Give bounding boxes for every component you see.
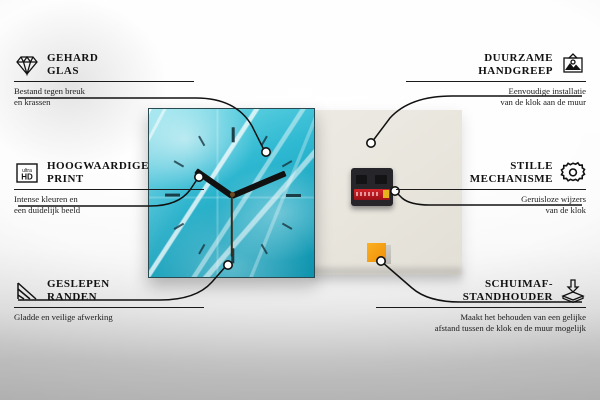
ultra-hd-icon: ultra HD: [14, 160, 40, 186]
feature-divider: [14, 189, 204, 190]
feature-geslepen-randen[interactable]: GESLEPENRANDEN Gladde en veilige afwerki…: [14, 278, 204, 323]
feature-title: SCHUIMAF-STANDHOUDER: [463, 278, 553, 304]
battery-plus-terminal: [383, 190, 389, 198]
feature-header: GEHARDGLAS: [14, 52, 194, 78]
clock-tick: [231, 127, 234, 142]
feature-header: SCHUIMAF-STANDHOUDER: [376, 278, 586, 304]
feature-divider: [376, 307, 586, 308]
feature-stille-mechanisme[interactable]: STILLEMECHANISME Geruisloze wijzersvan d…: [396, 160, 586, 216]
diagonal-lines-icon: [14, 278, 40, 304]
movement-block-left: [356, 175, 367, 184]
feature-duurzame-handgreep[interactable]: DUURZAMEHANDGREEP Eenvoudige installatie…: [406, 52, 586, 108]
feature-subtitle: Eenvoudige installatievan de klok aan de…: [406, 86, 586, 108]
svg-text:HD: HD: [21, 173, 33, 182]
clock-second-hand: [231, 195, 233, 257]
battery-label: [356, 192, 380, 196]
feature-divider: [406, 81, 586, 82]
feature-subtitle: Bestand tegen breuken krassen: [14, 86, 194, 108]
feature-subtitle: Intense kleuren eneen duidelijk beeld: [14, 194, 204, 216]
clock-center-cap: [230, 192, 235, 197]
feature-header: ultra HD HOOGWAARDIGEPRINT: [14, 160, 204, 186]
movement-block-right: [375, 175, 387, 184]
feature-header: GESLEPENRANDEN: [14, 278, 204, 304]
feature-gehard-glas[interactable]: GEHARDGLAS Bestand tegen breuken krassen: [14, 52, 194, 108]
feature-divider: [14, 81, 194, 82]
clock-tick: [286, 194, 301, 197]
feature-schuimafstandhouder[interactable]: SCHUIMAF-STANDHOUDER Maakt het behouden …: [376, 278, 586, 334]
diamond-icon: [14, 52, 40, 78]
feature-divider: [14, 307, 204, 308]
feature-title: STILLEMECHANISME: [470, 160, 553, 186]
feature-title: DUURZAMEHANDGREEP: [478, 52, 553, 78]
feature-title: GESLEPENRANDEN: [47, 278, 110, 304]
feature-subtitle: Geruisloze wijzersvan de klok: [396, 194, 586, 216]
feature-subtitle: Maakt het behouden van een gelijkeafstan…: [376, 312, 586, 334]
feature-title: HOOGWAARDIGEPRINT: [47, 160, 149, 186]
feature-header: STILLEMECHANISME: [396, 160, 586, 186]
infographic-canvas: GEHARDGLAS Bestand tegen breuken krassen…: [0, 0, 600, 400]
feature-hoogwaardige-print[interactable]: ultra HD HOOGWAARDIGEPRINT Intense kleur…: [14, 160, 204, 216]
feature-title: GEHARDGLAS: [47, 52, 98, 78]
clock-movement: [351, 168, 393, 206]
foam-spacer: [367, 243, 386, 262]
gear-icon: [560, 160, 586, 186]
arrow-onto-platform-icon: [560, 278, 586, 304]
feature-subtitle: Gladde en veilige afwerking: [14, 312, 204, 323]
picture-frame-icon: [560, 52, 586, 78]
feature-divider: [396, 189, 586, 190]
feature-header: DUURZAMEHANDGREEP: [406, 52, 586, 78]
